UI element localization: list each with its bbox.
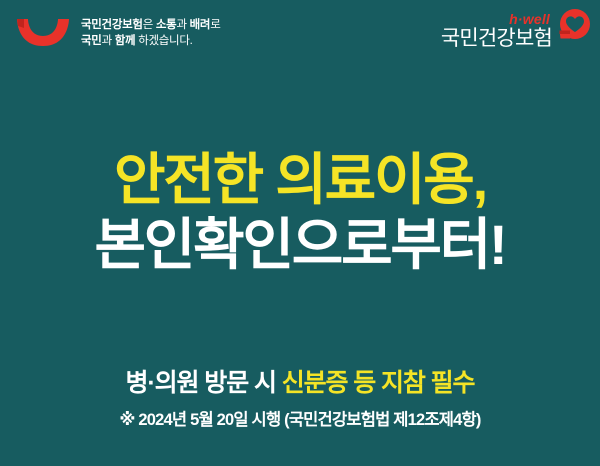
footer-main-white: 병·의원 방문 시 [126,369,282,397]
poster-headline: 안전한 의료이용, 본인확인으로부터! [0,148,600,278]
headline-line-2: 본인확인으로부터! [0,213,600,278]
footer-note-line: ※ 2024년 5월 20일 시행 (국민건강보험법 제12조제4항) [0,406,600,430]
heart-circle-logo-icon [556,8,592,48]
slogan-strong-1: 국민건강보험 [81,19,143,31]
poster-footer: 병·의원 방문 시 신분증 등 지참 필수 ※ 2024년 5월 20일 시행 … [0,368,600,430]
nhis-smile-icon [14,16,72,50]
slogan-line-1: 국민건강보험은 소통과 배려로 [81,17,220,33]
slogan-mid-2: 과 [176,19,189,31]
slogan-mid-1: 은 [143,19,156,31]
slogan-text-block: 국민건강보험은 소통과 배려로 국민과 함께 하겠습니다. [81,17,220,50]
slogan-strong-3: 배려 [190,19,211,31]
headline-line-1: 안전한 의료이용, [0,148,600,213]
poster-canvas: 국민건강보험은 소통과 배려로 국민과 함께 하겠습니다. h·well 국민건… [0,0,600,466]
logo-subbrand: h·well [441,12,552,26]
slogan-line-2: 국민과 함께 하겠습니다. [81,33,220,49]
slogan-strong-5: 함께 [115,35,136,47]
footer-main-line: 병·의원 방문 시 신분증 등 지참 필수 [0,368,600,399]
footer-main-highlight: 신분증 등 지참 필수 [282,369,475,397]
logo-text-block: h·well 국민건강보험 [441,8,552,49]
logo-brand-name: 국민건강보험 [441,28,552,49]
slogan-strong-4: 국민 [81,35,102,47]
corporate-logo-group: h·well 국민건강보험 [441,8,592,49]
poster-header: 국민건강보험은 소통과 배려로 국민과 함께 하겠습니다. h·well 국민건… [0,0,600,72]
slogan-end-1: 로 [210,19,220,31]
slogan-mid-3: 과 [102,35,115,47]
brand-slogan-group: 국민건강보험은 소통과 배려로 국민과 함께 하겠습니다. [14,16,220,50]
slogan-strong-2: 소통 [156,19,177,31]
slogan-end-2: 하겠습니다. [135,35,192,47]
